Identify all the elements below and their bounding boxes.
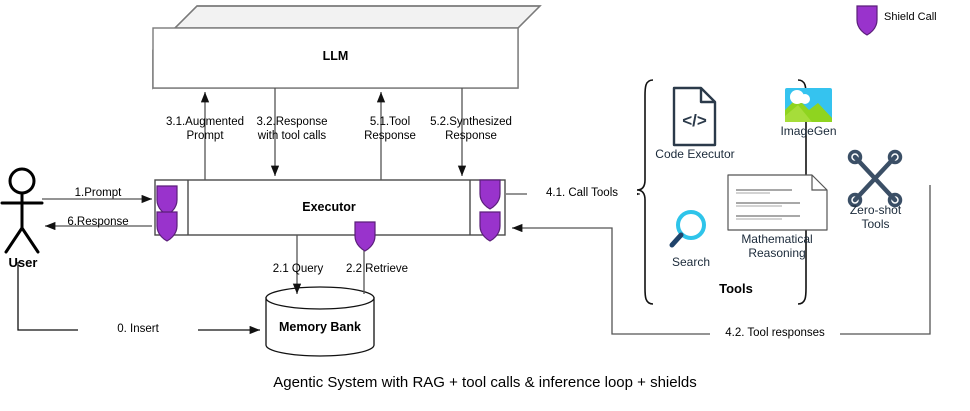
- image-icon: [785, 88, 832, 122]
- crossed-wrenches-icon: [850, 152, 901, 206]
- edge-label-synthesized-response: 5.2.Synthesized Response: [412, 116, 530, 143]
- edge-label-insert: 0. Insert: [78, 323, 198, 337]
- executor-label: Executor: [188, 200, 470, 214]
- legend-shield-label: Shield Call: [884, 11, 937, 23]
- user-actor: [2, 169, 42, 252]
- diagram-canvas: </>: [0, 0, 970, 411]
- shield-icon-executor-bottom: [355, 222, 375, 251]
- llm-node: [153, 6, 540, 88]
- diagram-caption: Agentic System with RAG + tool calls & i…: [0, 374, 970, 391]
- shield-icon-legend: [857, 6, 877, 35]
- memory-bank-label: Memory Bank: [266, 320, 374, 334]
- edge-label-response: 6.Response: [48, 216, 148, 230]
- tool-label-code-executor: Code Executor: [645, 147, 745, 161]
- tool-label-imagegen: ImageGen: [760, 124, 857, 138]
- edge-label-response-tool-calls: 3.2.Response with tool calls: [228, 116, 356, 143]
- tool-label-search: Search: [655, 255, 727, 269]
- edge-label-tool-responses: 4.2. Tool responses: [710, 327, 840, 341]
- shield-icon-executor-in-response: [157, 212, 177, 241]
- user-label: User: [0, 255, 46, 270]
- shield-icon-executor-in-tools: [480, 212, 500, 241]
- edge-label-prompt: 1.Prompt: [48, 187, 148, 201]
- magnifier-icon: [672, 212, 704, 245]
- tools-group-label: Tools: [676, 281, 796, 296]
- tool-label-zero-shot-tools: Zero-shot Tools: [833, 203, 918, 231]
- edge-label-call-tools: 4.1. Call Tools: [527, 187, 637, 201]
- svg-text:</>: </>: [682, 111, 707, 130]
- llm-label: LLM: [153, 49, 518, 63]
- code-document-icon: </>: [674, 88, 715, 145]
- math-document-icon: [728, 175, 827, 230]
- edge-insert: [18, 262, 260, 330]
- tool-label-mathematical-reasoning: Mathematical Reasoning: [722, 232, 832, 260]
- edge-label-retrieve: 2.2 Retrieve: [328, 263, 426, 277]
- tools-brace-left: [637, 80, 653, 304]
